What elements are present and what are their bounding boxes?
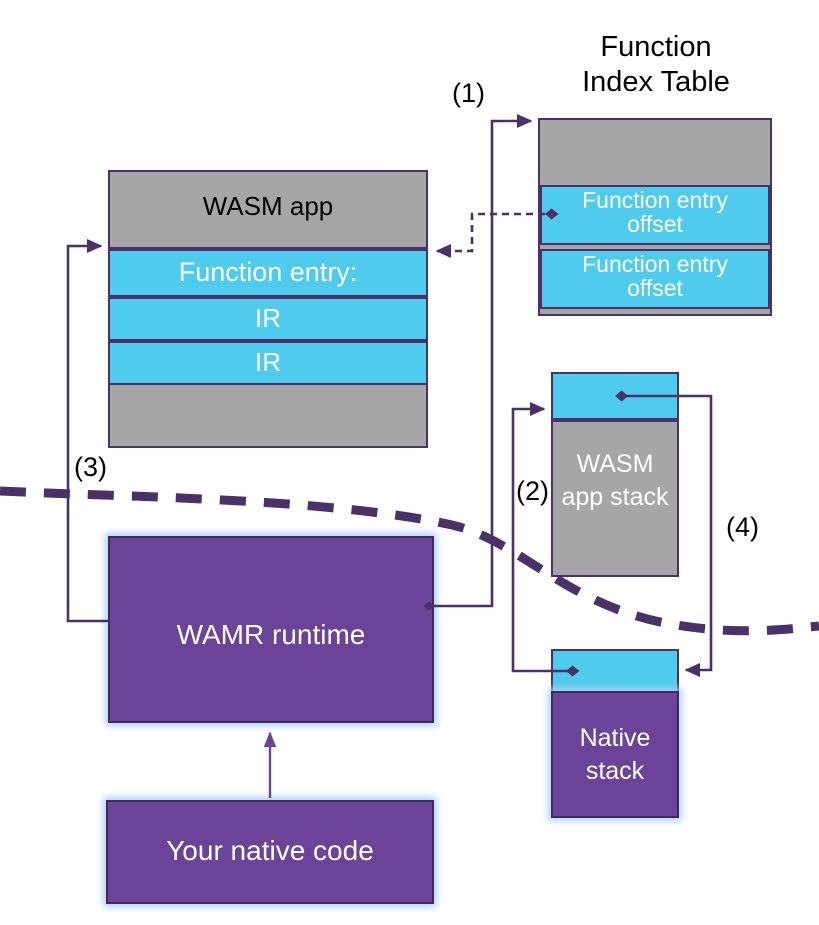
entry-2-line-2: offset bbox=[627, 275, 683, 301]
step-label-1: (1) bbox=[452, 78, 485, 109]
entry-1-line-2: offset bbox=[627, 211, 683, 237]
wasm-app-stack-label-line-1: WASM bbox=[577, 450, 654, 478]
native-stack-label-line-2: stack bbox=[586, 757, 644, 785]
wasm-app-stack-label-line-2: app stack bbox=[561, 483, 668, 511]
entry-1-line-1: Function entry bbox=[582, 187, 728, 213]
entry-2-line-1: Function entry bbox=[582, 251, 728, 277]
wasm-app-row-ir-2-label: IR bbox=[108, 349, 428, 376]
connector-step-1 bbox=[424, 121, 532, 611]
native-stack-label-line-1: Native bbox=[580, 724, 651, 752]
step-label-2: (2) bbox=[516, 476, 549, 507]
wasm-app-row-ir-1-label: IR bbox=[108, 305, 428, 332]
native-code-label: Your native code bbox=[106, 836, 434, 865]
connector-step-3 bbox=[68, 246, 108, 621]
wasm-app-stack-top-slot bbox=[551, 372, 679, 420]
step-label-3: (3) bbox=[74, 452, 107, 483]
title-line-2: Index Table bbox=[548, 65, 764, 100]
title-line-1: Function bbox=[548, 30, 764, 65]
wasm-app-header-label: WASM app bbox=[108, 193, 428, 220]
native-stack-top-slot bbox=[551, 649, 679, 693]
function-index-table-entry-2-label: Function entry offset bbox=[540, 252, 770, 300]
wasm-app-stack-label: WASM app stack bbox=[551, 448, 679, 514]
native-stack-label: Native stack bbox=[551, 722, 679, 788]
wamr-runtime-label: WAMR runtime bbox=[108, 620, 434, 649]
step-label-4: (4) bbox=[726, 512, 759, 543]
wasm-app-row-function-entry-label: Function entry: bbox=[108, 258, 428, 286]
function-index-table-title: Function Index Table bbox=[548, 30, 764, 101]
function-index-table-entry-1-label: Function entry offset bbox=[540, 188, 770, 236]
diagram-canvas: Function Index Table WASM app Function e… bbox=[0, 0, 819, 925]
